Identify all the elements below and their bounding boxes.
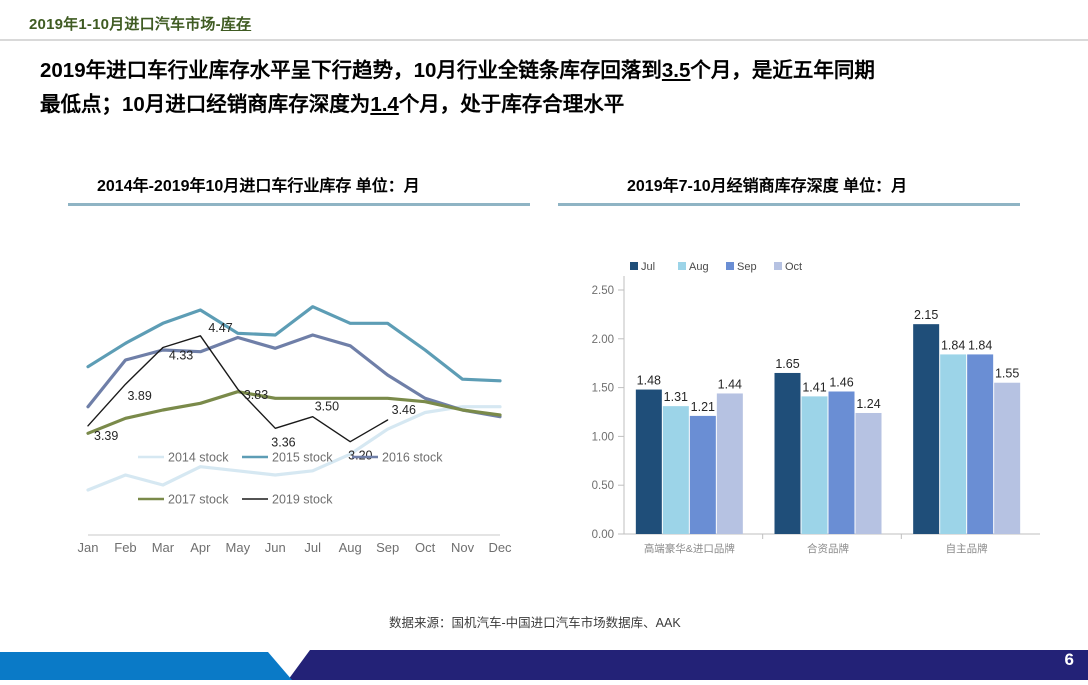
x-axis-tick-label: Jan (78, 540, 99, 555)
lead-line1-part-b: 个月，是近五年同期 (690, 59, 875, 82)
page-title: 2019年1-10月进口汽车市场-库存 (29, 13, 251, 34)
line-data-label: 4.47 (208, 321, 232, 335)
bar-oct (717, 393, 743, 534)
y-axis-tick-label: 0.00 (592, 529, 614, 541)
left-chart-title-underline (68, 203, 530, 206)
lead-line2-highlight: 1.4 (370, 93, 399, 116)
x-axis-tick-label: Jul (304, 540, 321, 555)
legend-label: 2019 stock (272, 493, 333, 507)
legend-label: Oct (785, 261, 802, 273)
bar-value-label: 1.46 (829, 376, 853, 390)
footer-left-shape (0, 652, 292, 680)
bar-jul (636, 390, 662, 534)
lead-statement-line-2: 最低点；10月进口经销商库存深度为1.4个月，处于库存合理水平 (40, 88, 1050, 122)
lead-line2-part-b: 个月，处于库存合理水平 (399, 93, 625, 116)
bar-aug (663, 406, 689, 534)
bar-jul (775, 373, 801, 534)
industry-stock-line-chart: 3.393.894.334.473.833.363.503.203.46 201… (60, 225, 530, 580)
footer-shapes (0, 640, 1088, 680)
line-data-label: 4.33 (169, 349, 193, 363)
lead-statement-line-1: 2019年进口车行业库存水平呈下行趋势，10月行业全链条库存回落到3.5个月，是… (40, 54, 1050, 88)
bar-value-label: 1.41 (802, 380, 826, 394)
lead-line1-highlight: 3.5 (662, 59, 691, 82)
legend-label: 2016 stock (382, 451, 443, 465)
left-chart-title: 2014年-2019年10月进口车行业库存 单位：月 (97, 172, 420, 196)
bar-category-label: 合资品牌 (807, 542, 849, 555)
bar-value-label: 1.84 (968, 338, 992, 352)
bar-value-label: 1.44 (718, 377, 742, 391)
line-chart-canvas: 3.393.894.334.473.833.363.503.203.46 201… (60, 225, 530, 580)
bar-value-label: 1.48 (637, 374, 661, 388)
bar-chart-legend: JulAugSepOct (630, 261, 802, 273)
bar-jul (913, 324, 939, 534)
footer-band (0, 640, 1088, 680)
x-axis-tick-label: Jun (265, 540, 286, 555)
y-axis-tick-label: 1.00 (592, 431, 614, 443)
bar-value-label: 1.65 (775, 357, 799, 371)
bar-sep (690, 416, 716, 534)
legend-swatch-oct (774, 262, 782, 270)
source-note: 数据来源：国机汽车-中国进口汽车市场数据库、AAK (389, 612, 681, 631)
line-data-label: 3.36 (271, 435, 295, 449)
legend-label: 2015 stock (272, 451, 333, 465)
legend-swatch-aug (678, 262, 686, 270)
x-axis-tick-label: Dec (488, 540, 512, 555)
bar-chart-canvas: JulAugSepOct 0.000.501.001.502.002.50 1.… (552, 248, 1052, 568)
x-axis-tick-label: Oct (415, 540, 436, 555)
page-title-emphasis: 库存 (221, 16, 251, 33)
bar-aug (802, 396, 828, 534)
x-axis-tick-label: Apr (190, 540, 211, 555)
bar-value-label: 1.21 (691, 400, 715, 414)
lead-line2-part-a: 最低点；10月进口经销商库存深度为 (40, 93, 370, 116)
legend-label: 2014 stock (168, 451, 229, 465)
legend-label: Jul (641, 261, 655, 273)
x-axis-tick-label: Feb (114, 540, 136, 555)
legend-label: Sep (737, 261, 757, 273)
bar-value-label: 1.24 (856, 397, 880, 411)
bar-series-group (636, 324, 1020, 534)
x-axis-tick-label: Mar (152, 540, 175, 555)
bar-sep (967, 354, 993, 534)
bar-category-label: 自主品牌 (946, 542, 988, 555)
bar-value-label: 1.55 (995, 367, 1019, 381)
line-data-label: 3.46 (392, 403, 416, 417)
x-axis-tick-label: Sep (376, 540, 399, 555)
bar-category-labels: 高端豪华&进口品牌合资品牌自主品牌 (644, 534, 988, 555)
slide-header: 2019年1-10月进口汽车市场-库存 (0, 0, 1088, 40)
y-axis-tick-label: 1.50 (592, 383, 614, 395)
page-title-plain: 2019年1-10月进口汽车市场- (29, 16, 221, 33)
bar-sep (829, 392, 855, 534)
bar-aug (940, 354, 966, 534)
right-chart-title: 2019年7-10月经销商库存深度 单位：月 (627, 172, 907, 196)
x-axis-tick-label: Aug (339, 540, 362, 555)
lead-line1-part-a: 2019年进口车行业库存水平呈下行趋势，10月行业全链条库存回落到 (40, 59, 662, 82)
legend-swatch-jul (630, 262, 638, 270)
page-number: 6 (1065, 650, 1074, 670)
bar-oct (994, 383, 1020, 534)
line-data-label: 3.20 (348, 449, 372, 463)
lead-statement: 2019年进口车行业库存水平呈下行趋势，10月行业全链条库存回落到3.5个月，是… (40, 54, 1050, 122)
x-axis-tick-labels: JanFebMarAprMayJunJulAugSepOctNovDec (78, 540, 513, 555)
y-axis-tick-label: 2.00 (592, 334, 614, 346)
bar-value-label: 1.84 (941, 338, 965, 352)
bar-oct (856, 413, 882, 534)
line-data-label: 3.83 (244, 388, 268, 402)
header-divider (0, 39, 1088, 41)
bar-value-label: 1.31 (664, 390, 688, 404)
legend-label: Aug (689, 261, 709, 273)
line-data-label: 3.89 (127, 389, 151, 403)
y-axis-tick-label: 2.50 (592, 285, 614, 297)
bar-value-label: 2.15 (914, 308, 938, 322)
line-data-label: 3.50 (315, 400, 339, 414)
dealer-stock-depth-bar-chart: JulAugSepOct 0.000.501.001.502.002.50 1.… (552, 248, 1052, 568)
bar-category-label: 高端豪华&进口品牌 (644, 542, 736, 555)
line-series-2015-stock (88, 307, 500, 381)
right-chart-title-underline (558, 203, 1020, 206)
legend-swatch-sep (726, 262, 734, 270)
footer-right-shape (288, 650, 1088, 680)
x-axis-tick-label: Nov (451, 540, 475, 555)
y-axis-tick-label: 0.50 (592, 480, 614, 492)
x-axis-tick-label: May (226, 540, 251, 555)
legend-label: 2017 stock (168, 493, 229, 507)
line-chart-legend: 2014 stock2015 stock2016 stock2017 stock… (138, 451, 443, 507)
line-data-label: 3.39 (94, 429, 118, 443)
